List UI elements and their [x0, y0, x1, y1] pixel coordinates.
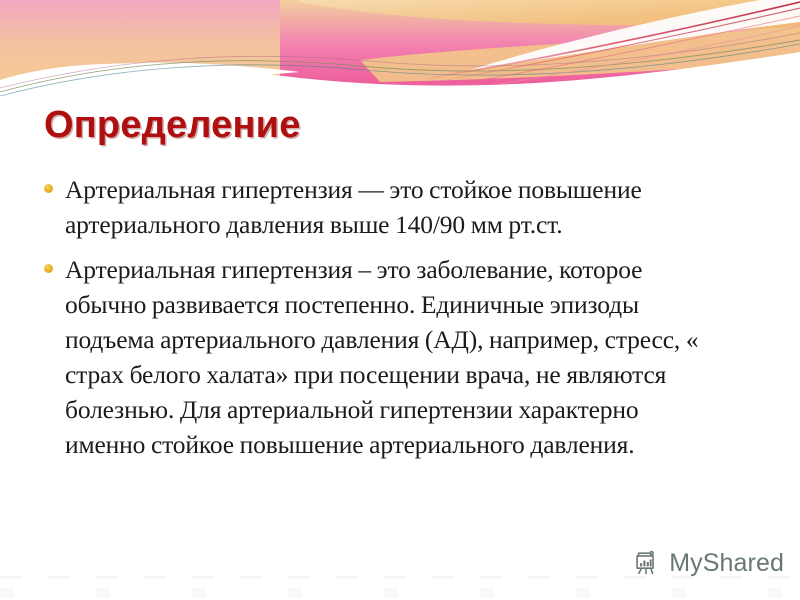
page-title: Определение	[44, 103, 301, 147]
dot-bullet-icon	[44, 184, 53, 193]
dot-bullet-icon	[44, 264, 53, 273]
myshared-watermark: MyShared	[631, 548, 784, 578]
bullet-list: Артериальная гипертензия — это стойкое п…	[44, 172, 704, 472]
bullet-text: Артериальная гипертензия — это стойкое п…	[65, 172, 704, 242]
decorative-wave-banner	[0, 0, 800, 110]
myshared-label: MyShared	[669, 549, 784, 577]
bullet-text: Артериальная гипертензия – это заболеван…	[65, 252, 704, 462]
slide: Определение Артериальная гипертензия — э…	[0, 0, 800, 600]
list-item: Артериальная гипертензия — это стойкое п…	[44, 172, 704, 242]
list-item: Артериальная гипертензия – это заболеван…	[44, 252, 704, 462]
presentation-board-icon	[631, 548, 661, 578]
